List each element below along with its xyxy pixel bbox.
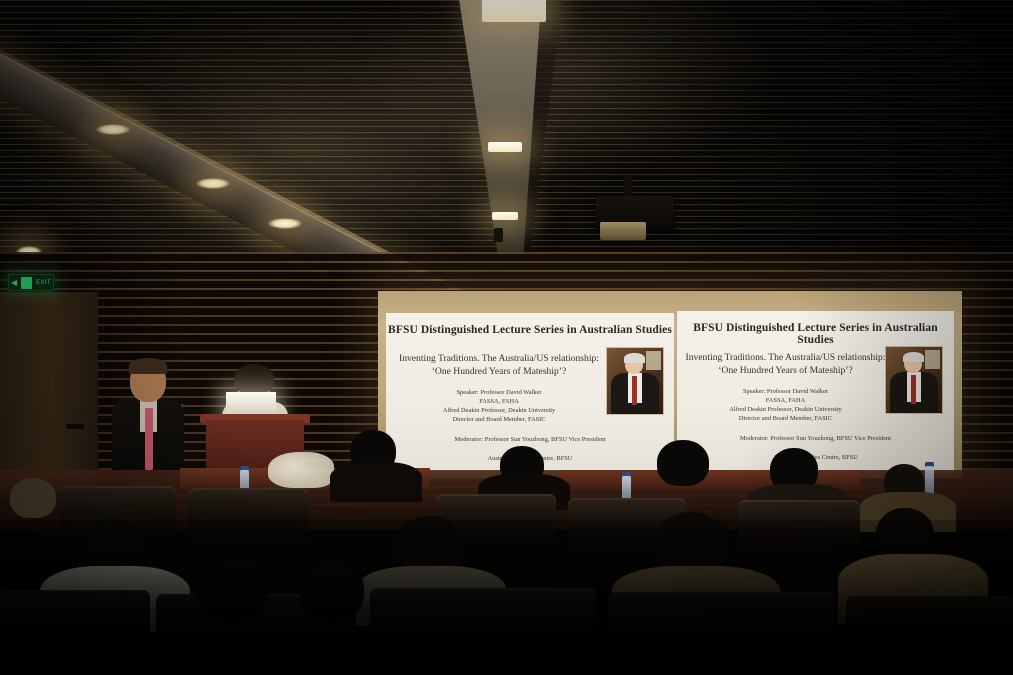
door-handle-icon[interactable] bbox=[66, 424, 84, 429]
portrait-window bbox=[925, 350, 940, 370]
audience-head bbox=[10, 478, 56, 518]
portrait-window bbox=[646, 351, 661, 371]
man-tie bbox=[145, 408, 153, 470]
portrait-tie bbox=[911, 375, 916, 404]
slide-title: BFSU Distinguished Lecture Series in Aus… bbox=[677, 322, 954, 346]
emergency-exit-sign: ◀ EXIT bbox=[8, 274, 54, 291]
portrait-hair bbox=[903, 352, 923, 363]
speaker-portrait bbox=[885, 346, 943, 414]
slide-panel-right: BFSU Distinguished Lecture Series in Aus… bbox=[677, 311, 954, 471]
projector-lens-icon bbox=[600, 222, 646, 240]
speaker-portrait bbox=[606, 347, 664, 415]
foreground-shadow bbox=[0, 520, 1013, 675]
sprinkler-head-icon bbox=[494, 228, 503, 242]
man-hair bbox=[129, 358, 167, 374]
slide-title: BFSU Distinguished Lecture Series in Aus… bbox=[386, 324, 674, 336]
slide-speaker-line4: Director and Board Member, FASIC bbox=[386, 416, 674, 423]
slide-moderator-line: Moderator: Professor Sun Youzhong, BFSU … bbox=[677, 435, 954, 442]
presenter-hair bbox=[234, 364, 274, 394]
slide-moderator-line: Moderator: Professor Sun Youzhong, BFSU … bbox=[386, 436, 674, 443]
hall-door[interactable] bbox=[0, 292, 98, 492]
downlight-icon bbox=[268, 218, 302, 229]
exit-sign-label: EXIT bbox=[36, 280, 51, 286]
exit-arrow-icon: ◀ bbox=[11, 278, 17, 287]
slide-speaker-line4: Director and Board Member, FASIC bbox=[677, 415, 954, 422]
ceiling-light-tube bbox=[488, 142, 522, 152]
ceiling-light-tube bbox=[482, 0, 546, 22]
downlight-icon bbox=[196, 178, 230, 189]
audience-shoulders bbox=[330, 462, 422, 502]
plastic-bag bbox=[268, 452, 334, 488]
lecture-hall-photo: ◀ EXIT BFSU Distinguished Lecture Series… bbox=[0, 0, 1013, 675]
audience-head bbox=[657, 440, 709, 486]
portrait-tie bbox=[632, 376, 637, 405]
portrait-hair bbox=[624, 353, 644, 364]
downlight-icon bbox=[96, 124, 130, 135]
ceiling-light-tube bbox=[492, 212, 518, 220]
running-man-icon bbox=[21, 277, 32, 289]
